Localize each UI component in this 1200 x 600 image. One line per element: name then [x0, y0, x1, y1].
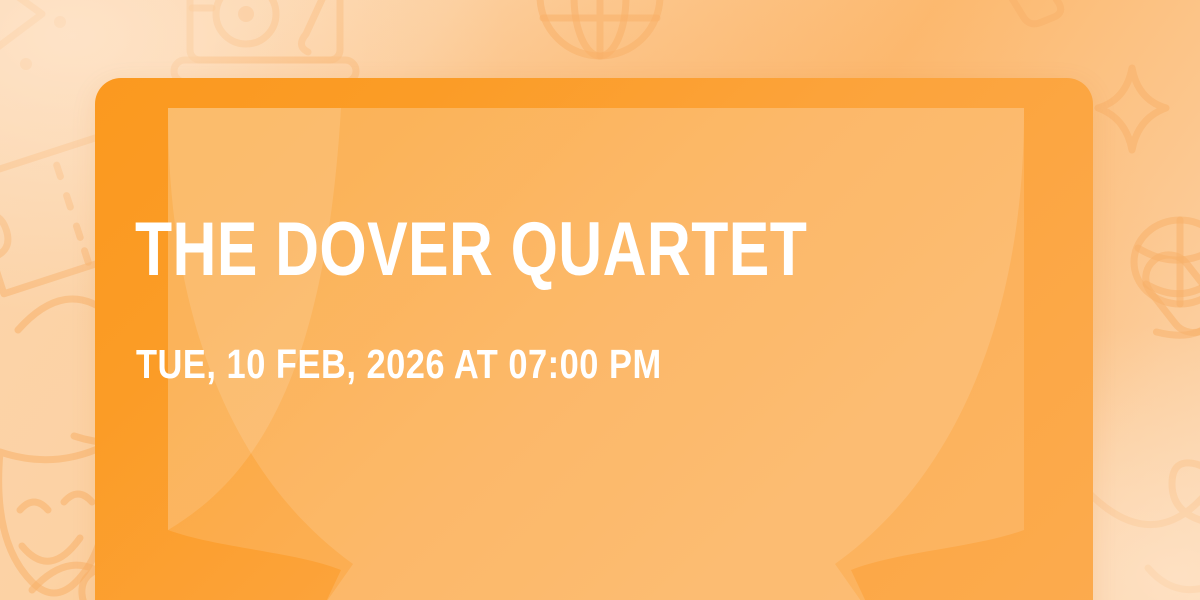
sparkle-icon [1098, 68, 1166, 150]
event-card[interactable]: THE DOVER QUARTET TUE, 10 FEB, 2026 AT 0… [95, 78, 1093, 600]
event-title: THE DOVER QUARTET [135, 208, 807, 292]
megaphone-icon [966, 0, 1106, 38]
confetti-icon [0, 0, 66, 70]
globe-icon [540, 0, 660, 56]
microphone-icon [1121, 233, 1200, 396]
event-card-content: THE DOVER QUARTET TUE, 10 FEB, 2026 AT 0… [135, 78, 1053, 600]
event-datetime: TUE, 10 FEB, 2026 AT 07:00 PM [136, 340, 662, 388]
swirl-icon [1086, 463, 1200, 590]
turntable-icon [174, 0, 356, 82]
event-banner: THE DOVER QUARTET TUE, 10 FEB, 2026 AT 0… [0, 0, 1200, 600]
drum-icon [1134, 220, 1200, 304]
